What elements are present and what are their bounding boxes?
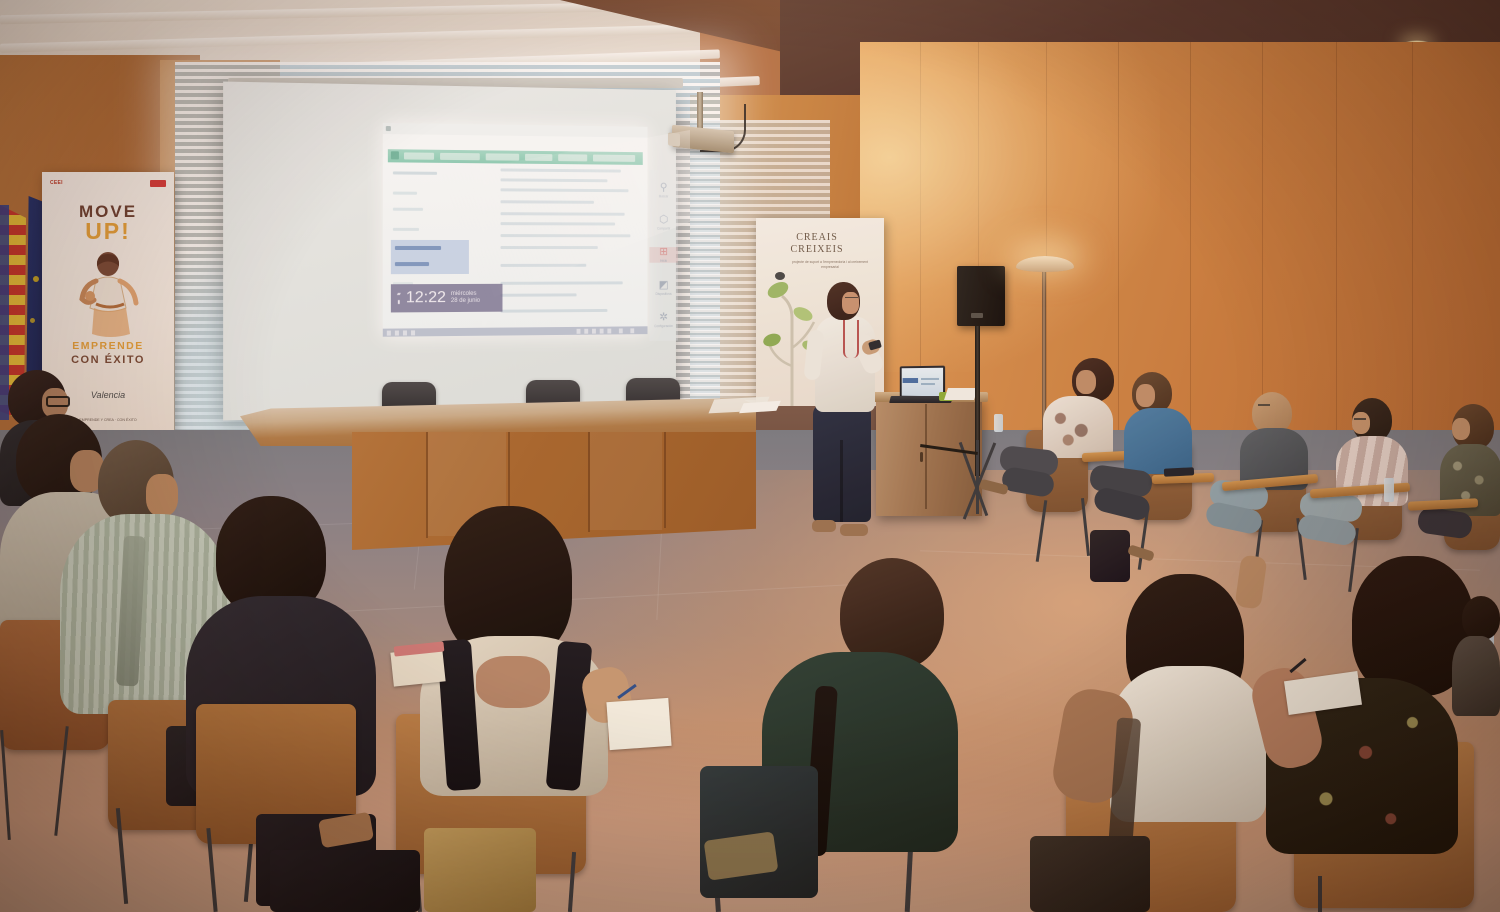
windows-clock-tile: ▰ ▮ 12:22 miércoles 28 de junio [391, 284, 503, 313]
devices-icon: ◩ [659, 280, 669, 291]
attendee-pattern [1050, 404, 1102, 452]
taskbar-icon[interactable] [387, 330, 391, 335]
banner-line-3: EMPRENDE [42, 340, 174, 352]
charm-label: Configuración [654, 324, 673, 328]
photo-scene: ▰ ▮ 12:22 miércoles 28 de junio ⚲ Buscar… [0, 0, 1500, 912]
tablet-device[interactable] [1164, 467, 1194, 477]
taskbar-icon[interactable] [403, 330, 407, 335]
start-charm[interactable]: ⊞ Inicio [649, 248, 677, 264]
banner-title-line-2: CREIXEIS [756, 244, 878, 255]
attendee-head [1462, 596, 1500, 640]
share-icon: ⬡ [659, 215, 668, 226]
attendee-face [1136, 384, 1155, 407]
browser-icon [386, 126, 391, 131]
banner-logo-secondary [150, 180, 166, 187]
presenter-face [842, 292, 859, 314]
projection-screen: ▰ ▮ 12:22 miércoles 28 de junio ⚲ Buscar… [223, 82, 676, 421]
attendee-face [1076, 370, 1096, 394]
attendee-face [1452, 418, 1470, 440]
tray-icon[interactable] [607, 328, 611, 333]
nav-item[interactable] [404, 152, 434, 159]
taskbar-icon[interactable] [395, 330, 399, 335]
laptop-ui-line [921, 378, 939, 380]
signal-icon: ▰ [397, 291, 401, 297]
bag[interactable] [270, 850, 420, 912]
tray-icon[interactable] [584, 328, 588, 333]
eyeglasses-icon [845, 297, 858, 302]
attendee-torso [1452, 636, 1500, 716]
presenter-sandal [812, 520, 836, 532]
chair-leg [1318, 876, 1322, 912]
handbag[interactable] [1090, 530, 1130, 582]
cabinet-papers [944, 388, 978, 400]
home-icon[interactable] [391, 151, 399, 159]
athlete-illustration-icon [72, 250, 144, 338]
attendee-back [476, 656, 550, 708]
projected-desktop: ▰ ▮ 12:22 miércoles 28 de junio ⚲ Buscar… [383, 123, 648, 337]
share-charm[interactable]: ⬡ Compartir [657, 215, 670, 231]
nav-item[interactable] [486, 153, 519, 160]
water-bottle[interactable] [994, 414, 1003, 432]
floor-lamp-shade [1016, 256, 1074, 272]
pa-speaker [957, 266, 1005, 326]
banner-line-4: CON ÉXITO [42, 354, 174, 366]
nav-item[interactable] [558, 154, 587, 161]
charm-label: Compartir [657, 227, 670, 231]
tray-icon[interactable] [619, 328, 623, 333]
start-icon: ⊞ [659, 248, 668, 259]
tray-icon[interactable] [600, 328, 604, 333]
eu-flag-star [30, 318, 35, 323]
devices-charm[interactable]: ◩ Dispositivos [656, 280, 672, 296]
selected-options-block[interactable] [391, 240, 469, 274]
cabinet-door-seam [925, 404, 927, 509]
projector-lens-icon [668, 132, 680, 146]
handbag[interactable] [424, 828, 536, 912]
clock-date-group: miércoles 28 de junio [451, 290, 480, 305]
battery-icon: ▮ [397, 299, 400, 305]
nav-item[interactable] [440, 153, 480, 160]
banner-title-line-1: CREAIS [756, 232, 878, 243]
banner-logo: CEEI [50, 180, 63, 186]
site-navbar[interactable] [388, 149, 643, 165]
presenter-sandal [840, 524, 868, 536]
settings-charm[interactable]: ✲ Configuración [654, 313, 673, 329]
search-charm[interactable]: ⚲ Buscar [659, 182, 668, 198]
presenter-lanyard [843, 320, 859, 358]
taskbar[interactable] [383, 326, 648, 336]
wall-highlight [860, 42, 1160, 372]
eyeglasses-icon [1354, 418, 1366, 424]
presenter-leg-seam [840, 440, 843, 522]
charm-label: Inicio [660, 259, 667, 263]
taskbar-icon[interactable] [411, 330, 415, 335]
attendee-face [146, 474, 178, 516]
speaker-badge-icon [971, 313, 983, 318]
bag[interactable] [1030, 836, 1150, 912]
clock-date: 28 de junio [451, 298, 480, 306]
clock-time: 12:22 [406, 290, 446, 306]
laptop-display [902, 368, 943, 397]
valencian-flag-blue [0, 205, 9, 420]
search-icon: ⚲ [660, 182, 668, 193]
attendee-torso [1124, 408, 1192, 474]
tray-icon[interactable] [577, 328, 581, 333]
eu-flag-star [33, 276, 39, 282]
nav-item[interactable] [593, 155, 635, 162]
charm-label: Dispositivos [656, 292, 672, 296]
laptop-ui-line [921, 383, 935, 385]
charm-label: Buscar [659, 194, 668, 198]
notebook[interactable] [606, 698, 671, 750]
eyeglasses-icon [1258, 404, 1270, 410]
tray-icon[interactable] [592, 328, 596, 333]
nav-item[interactable] [525, 154, 552, 161]
tray-icon[interactable] [630, 328, 634, 333]
gear-icon: ✲ [659, 313, 668, 324]
eyeglasses-icon [46, 396, 70, 407]
laptop-ui-block [903, 378, 918, 383]
charms-bar[interactable]: ⚲ Buscar ⬡ Compartir ⊞ Inicio ◩ Disposit… [649, 170, 677, 341]
clock-weekday: miércoles [451, 290, 480, 298]
status-icons: ▰ ▮ [397, 291, 401, 305]
banner-line-2: UP! [42, 218, 174, 245]
cabinet-handle[interactable] [920, 452, 923, 462]
water-bottle[interactable] [1384, 478, 1394, 502]
